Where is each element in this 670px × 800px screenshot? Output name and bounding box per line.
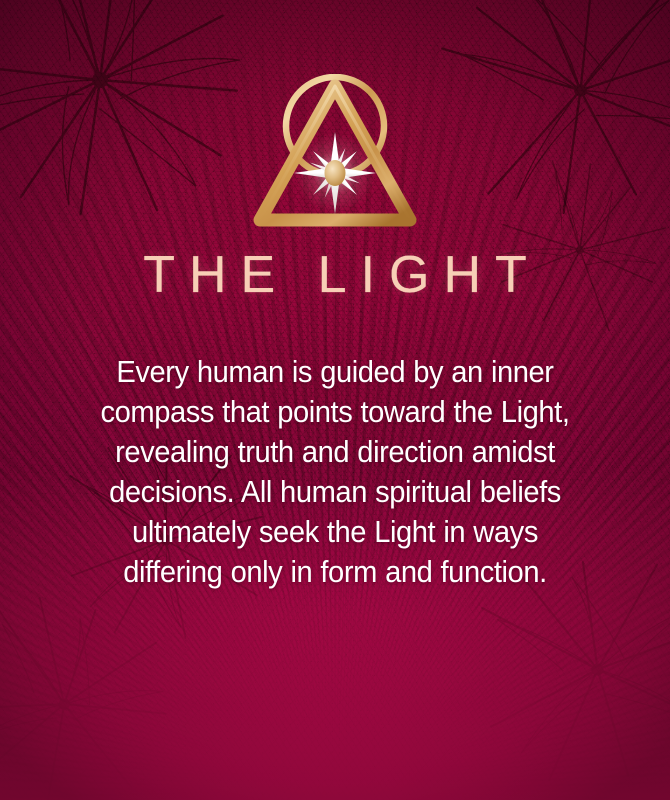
page-title: THE LIGHT — [0, 249, 670, 301]
body-paragraph: Every human is guided by an inner compas… — [82, 352, 588, 592]
the-light-card: THE LIGHT Every human is guided by an in… — [0, 0, 670, 800]
triangle-circle-starburst-logo — [251, 74, 419, 230]
card-content: THE LIGHT Every human is guided by an in… — [0, 0, 670, 800]
center-orb-shape — [325, 160, 346, 186]
